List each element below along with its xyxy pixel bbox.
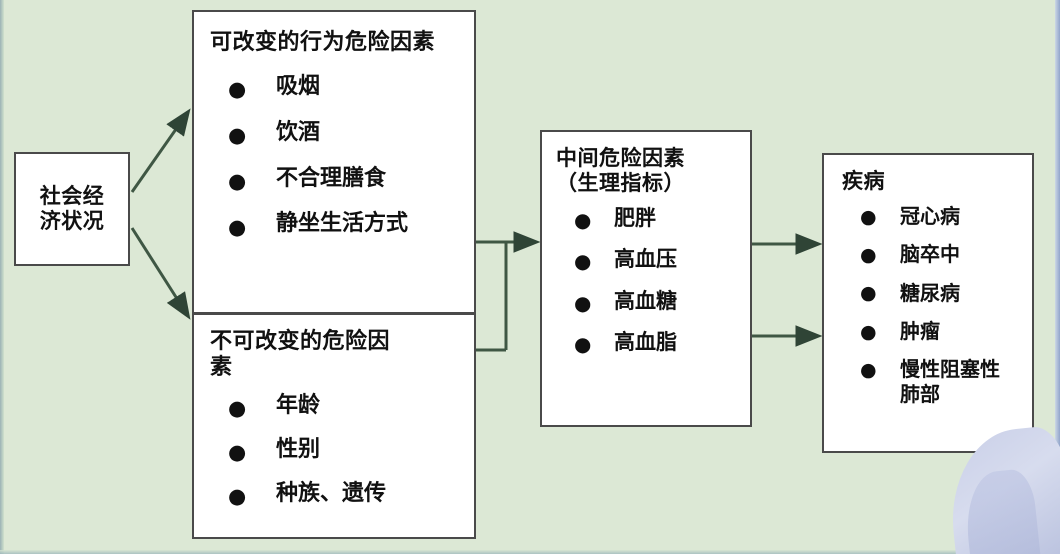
bullet-icon: ●	[574, 291, 591, 316]
list-item: ● 慢性阻塞性 肺部	[842, 357, 1026, 406]
list-item-label: 高血糖	[614, 289, 742, 315]
list-item-label: 静坐生活方式	[276, 211, 462, 238]
node-modifiable-risk-factors[interactable]: 可改变的行为危险因素 ● 吸烟 ● 饮酒 ● 不合理膳食 ● 静坐生活方式	[192, 10, 476, 314]
bullet-icon: ●	[228, 168, 246, 194]
list-item: ● 年龄	[210, 393, 462, 420]
node-intermediate-title: 中间危险因素 （生理指标）	[556, 146, 742, 196]
list-item: ● 不合理膳食	[210, 166, 462, 193]
arrow-socioeconomic-to-nonmodifiable	[132, 228, 188, 316]
list-item: ● 饮酒	[210, 120, 462, 147]
list-item-label: 慢性阻塞性 肺部	[900, 357, 1026, 406]
list-item: ● 肥胖	[556, 206, 742, 232]
node-socioeconomic-title: 社会经 济状况	[40, 184, 105, 234]
list-item-label: 年龄	[276, 393, 462, 420]
list-item-label: 脑卒中	[900, 242, 1026, 266]
node-socioeconomic-status[interactable]: 社会经 济状况	[14, 152, 130, 266]
list-item-label: 冠心病	[900, 204, 1026, 228]
list-item-label: 性别	[276, 437, 462, 464]
list-item-label: 高血压	[614, 247, 742, 273]
modifiable-item-list: ● 吸烟 ● 饮酒 ● 不合理膳食 ● 静坐生活方式	[210, 74, 462, 238]
list-item-label: 饮酒	[276, 120, 462, 147]
bullet-icon: ●	[228, 122, 246, 148]
list-item: ● 高血压	[556, 247, 742, 273]
bullet-icon: ●	[860, 206, 877, 230]
list-item-label: 糖尿病	[900, 281, 1026, 305]
bullet-icon: ●	[574, 208, 591, 233]
node-modifiable-title: 可改变的行为危险因素	[210, 30, 462, 56]
intermediate-item-list: ● 肥胖 ● 高血压 ● 高血糖 ● 高血脂	[556, 206, 742, 356]
list-item-label: 肿瘤	[900, 319, 1026, 343]
list-item: ● 种族、遗传	[210, 481, 462, 508]
node-nonmodifiable-risk-factors[interactable]: 不可改变的危险因 素 ● 年龄 ● 性别 ● 种族、遗传	[192, 313, 476, 539]
list-item: ● 吸烟	[210, 74, 462, 101]
list-item-label: 种族、遗传	[276, 481, 462, 508]
arrow-socioeconomic-to-modifiable	[132, 112, 188, 192]
disease-item-list: ● 冠心病 ● 脑卒中 ● 糖尿病 ● 肿瘤 ● 慢性阻塞性 肺部	[842, 204, 1026, 406]
bullet-icon: ●	[860, 244, 877, 268]
list-item: ● 肿瘤	[842, 319, 1026, 343]
list-item: ● 糖尿病	[842, 281, 1026, 305]
list-item: ● 静坐生活方式	[210, 211, 462, 238]
list-item-label: 肥胖	[614, 206, 742, 232]
list-item: ● 脑卒中	[842, 242, 1026, 266]
list-item-label: 高血脂	[614, 330, 742, 356]
node-diseases[interactable]: 疾病 ● 冠心病 ● 脑卒中 ● 糖尿病 ● 肿瘤 ● 慢性阻塞性 肺部	[822, 153, 1034, 453]
node-intermediate-risk-factors[interactable]: 中间危险因素 （生理指标） ● 肥胖 ● 高血压 ● 高血糖 ● 高血脂	[540, 130, 752, 427]
list-item: ● 高血糖	[556, 289, 742, 315]
list-item: ● 冠心病	[842, 204, 1026, 228]
list-item: ● 高血脂	[556, 330, 742, 356]
node-disease-title: 疾病	[842, 169, 1026, 194]
bullet-icon: ●	[228, 214, 246, 240]
bullet-icon: ●	[228, 76, 246, 102]
node-nonmodifiable-title: 不可改变的危险因 素	[210, 329, 462, 381]
list-item-label: 不合理膳食	[276, 166, 462, 193]
slide-edge-left	[0, 0, 4, 554]
bullet-icon: ●	[228, 483, 246, 509]
list-item-label: 吸烟	[276, 74, 462, 101]
bullet-icon: ●	[228, 439, 246, 465]
bullet-icon: ●	[860, 321, 877, 345]
bullet-icon: ●	[860, 359, 877, 383]
bullet-icon: ●	[574, 249, 591, 274]
bullet-icon: ●	[574, 332, 591, 357]
diagram-canvas: 社会经 济状况 可改变的行为危险因素 ● 吸烟 ● 饮酒 ● 不合理膳食 ● 静…	[0, 0, 1060, 554]
nonmodifiable-item-list: ● 年龄 ● 性别 ● 种族、遗传	[210, 393, 462, 507]
list-item: ● 性别	[210, 437, 462, 464]
bullet-icon: ●	[860, 282, 877, 306]
slide-edge-bottom	[0, 550, 1060, 554]
bullet-icon: ●	[228, 395, 246, 421]
